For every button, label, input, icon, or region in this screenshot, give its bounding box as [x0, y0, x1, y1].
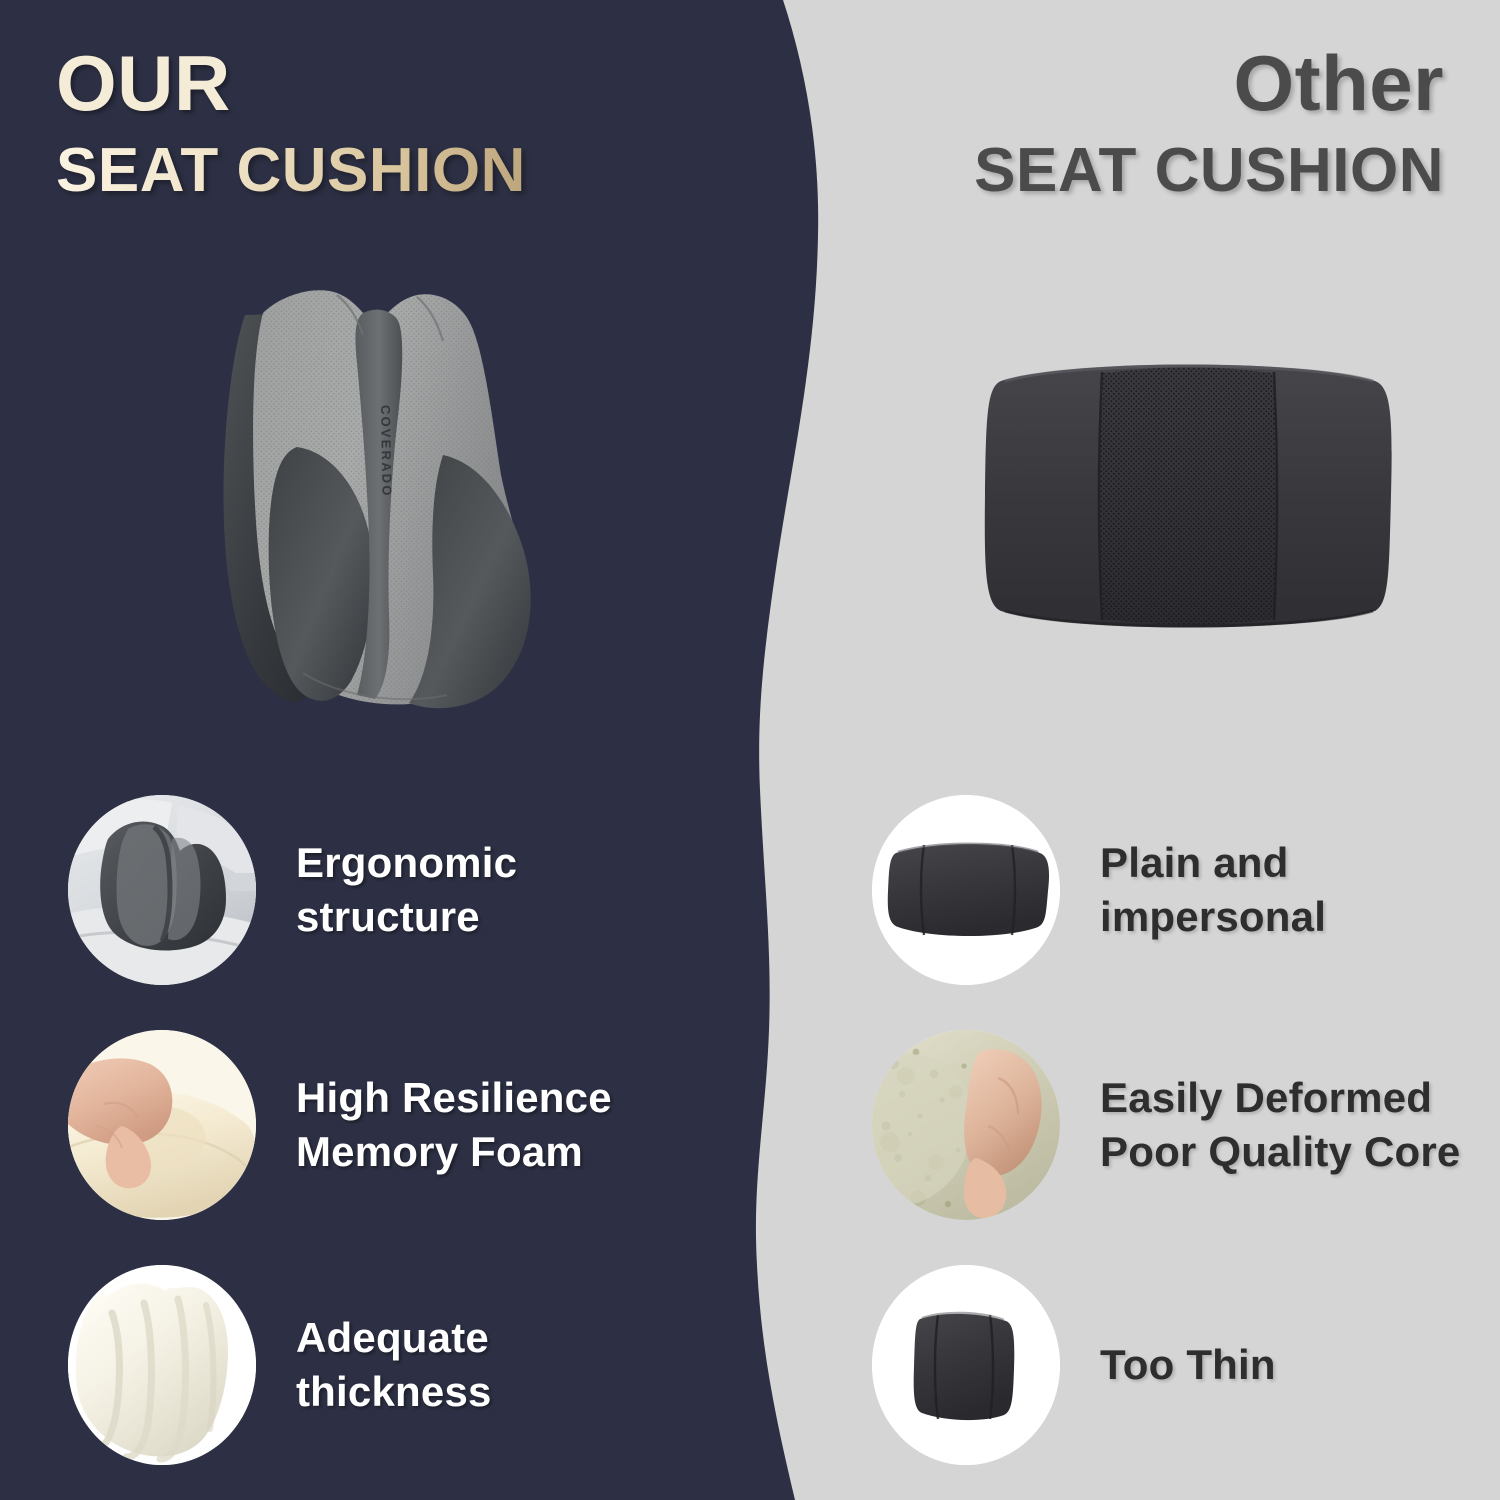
other-seat-cushion-hero — [975, 345, 1400, 645]
cushion-in-car-seat-photo — [68, 795, 256, 985]
other-feature-row-2: Easily Deformed Poor Quality Core — [872, 1030, 1492, 1220]
our-header-line1: OUR — [56, 44, 526, 122]
other-feature-row-3: Too Thin — [872, 1265, 1492, 1465]
comparison-infographic: OUR SEAT CUSHION Other SEAT CUSHION — [0, 0, 1500, 1500]
thin-black-cushion-photo — [872, 1265, 1060, 1465]
other-pillow-mesh-texture — [1100, 367, 1276, 625]
other-feature-1-label: Plain and impersonal — [1100, 836, 1326, 944]
other-feature-row-1: Plain and impersonal — [872, 795, 1492, 985]
our-feature-3-label-line1: Adequate — [296, 1314, 489, 1361]
our-feature-2-label-line1: High Resilience — [296, 1074, 612, 1121]
other-feature-3-label-line1: Too Thin — [1100, 1341, 1276, 1388]
other-feature-2-label: Easily Deformed Poor Quality Core — [1100, 1071, 1460, 1179]
our-header-line2: SEAT CUSHION — [56, 140, 526, 202]
plain-black-pillow-photo — [872, 795, 1060, 985]
our-feature-2-label: High Resilience Memory Foam — [296, 1071, 612, 1179]
other-header-line1: Other — [974, 44, 1444, 122]
our-feature-3-label-line2: thickness — [296, 1368, 492, 1415]
our-feature-row-2: High Resilience Memory Foam — [68, 1030, 728, 1220]
hand-pressing-memory-foam-photo — [68, 1030, 256, 1220]
thick-white-foam-core-photo — [68, 1265, 256, 1465]
other-feature-2-label-line2: Poor Quality Core — [1100, 1128, 1460, 1175]
our-feature-1-label-line2: structure — [296, 893, 480, 940]
other-feature-1-label-line1: Plain and — [1100, 839, 1289, 886]
our-header: OUR SEAT CUSHION — [56, 44, 526, 202]
other-header-line2: SEAT CUSHION — [974, 140, 1444, 202]
other-header: Other SEAT CUSHION — [974, 44, 1444, 202]
our-feature-2-label-line2: Memory Foam — [296, 1128, 583, 1175]
cushion-brand-text: COVERADO — [378, 405, 395, 498]
other-feature-3-label: Too Thin — [1100, 1338, 1276, 1392]
our-feature-row-3: Adequate thickness — [68, 1265, 728, 1465]
our-seat-cushion-hero: COVERADO — [185, 255, 575, 715]
our-feature-1-label: Ergonomic structure — [296, 836, 517, 944]
other-feature-2-label-line1: Easily Deformed — [1100, 1074, 1432, 1121]
our-feature-3-label: Adequate thickness — [296, 1311, 492, 1419]
deformed-dirty-foam-photo — [872, 1030, 1060, 1220]
other-feature-1-label-line2: impersonal — [1100, 893, 1326, 940]
our-feature-1-label-line1: Ergonomic — [296, 839, 517, 886]
our-feature-row-1: Ergonomic structure — [68, 795, 728, 985]
